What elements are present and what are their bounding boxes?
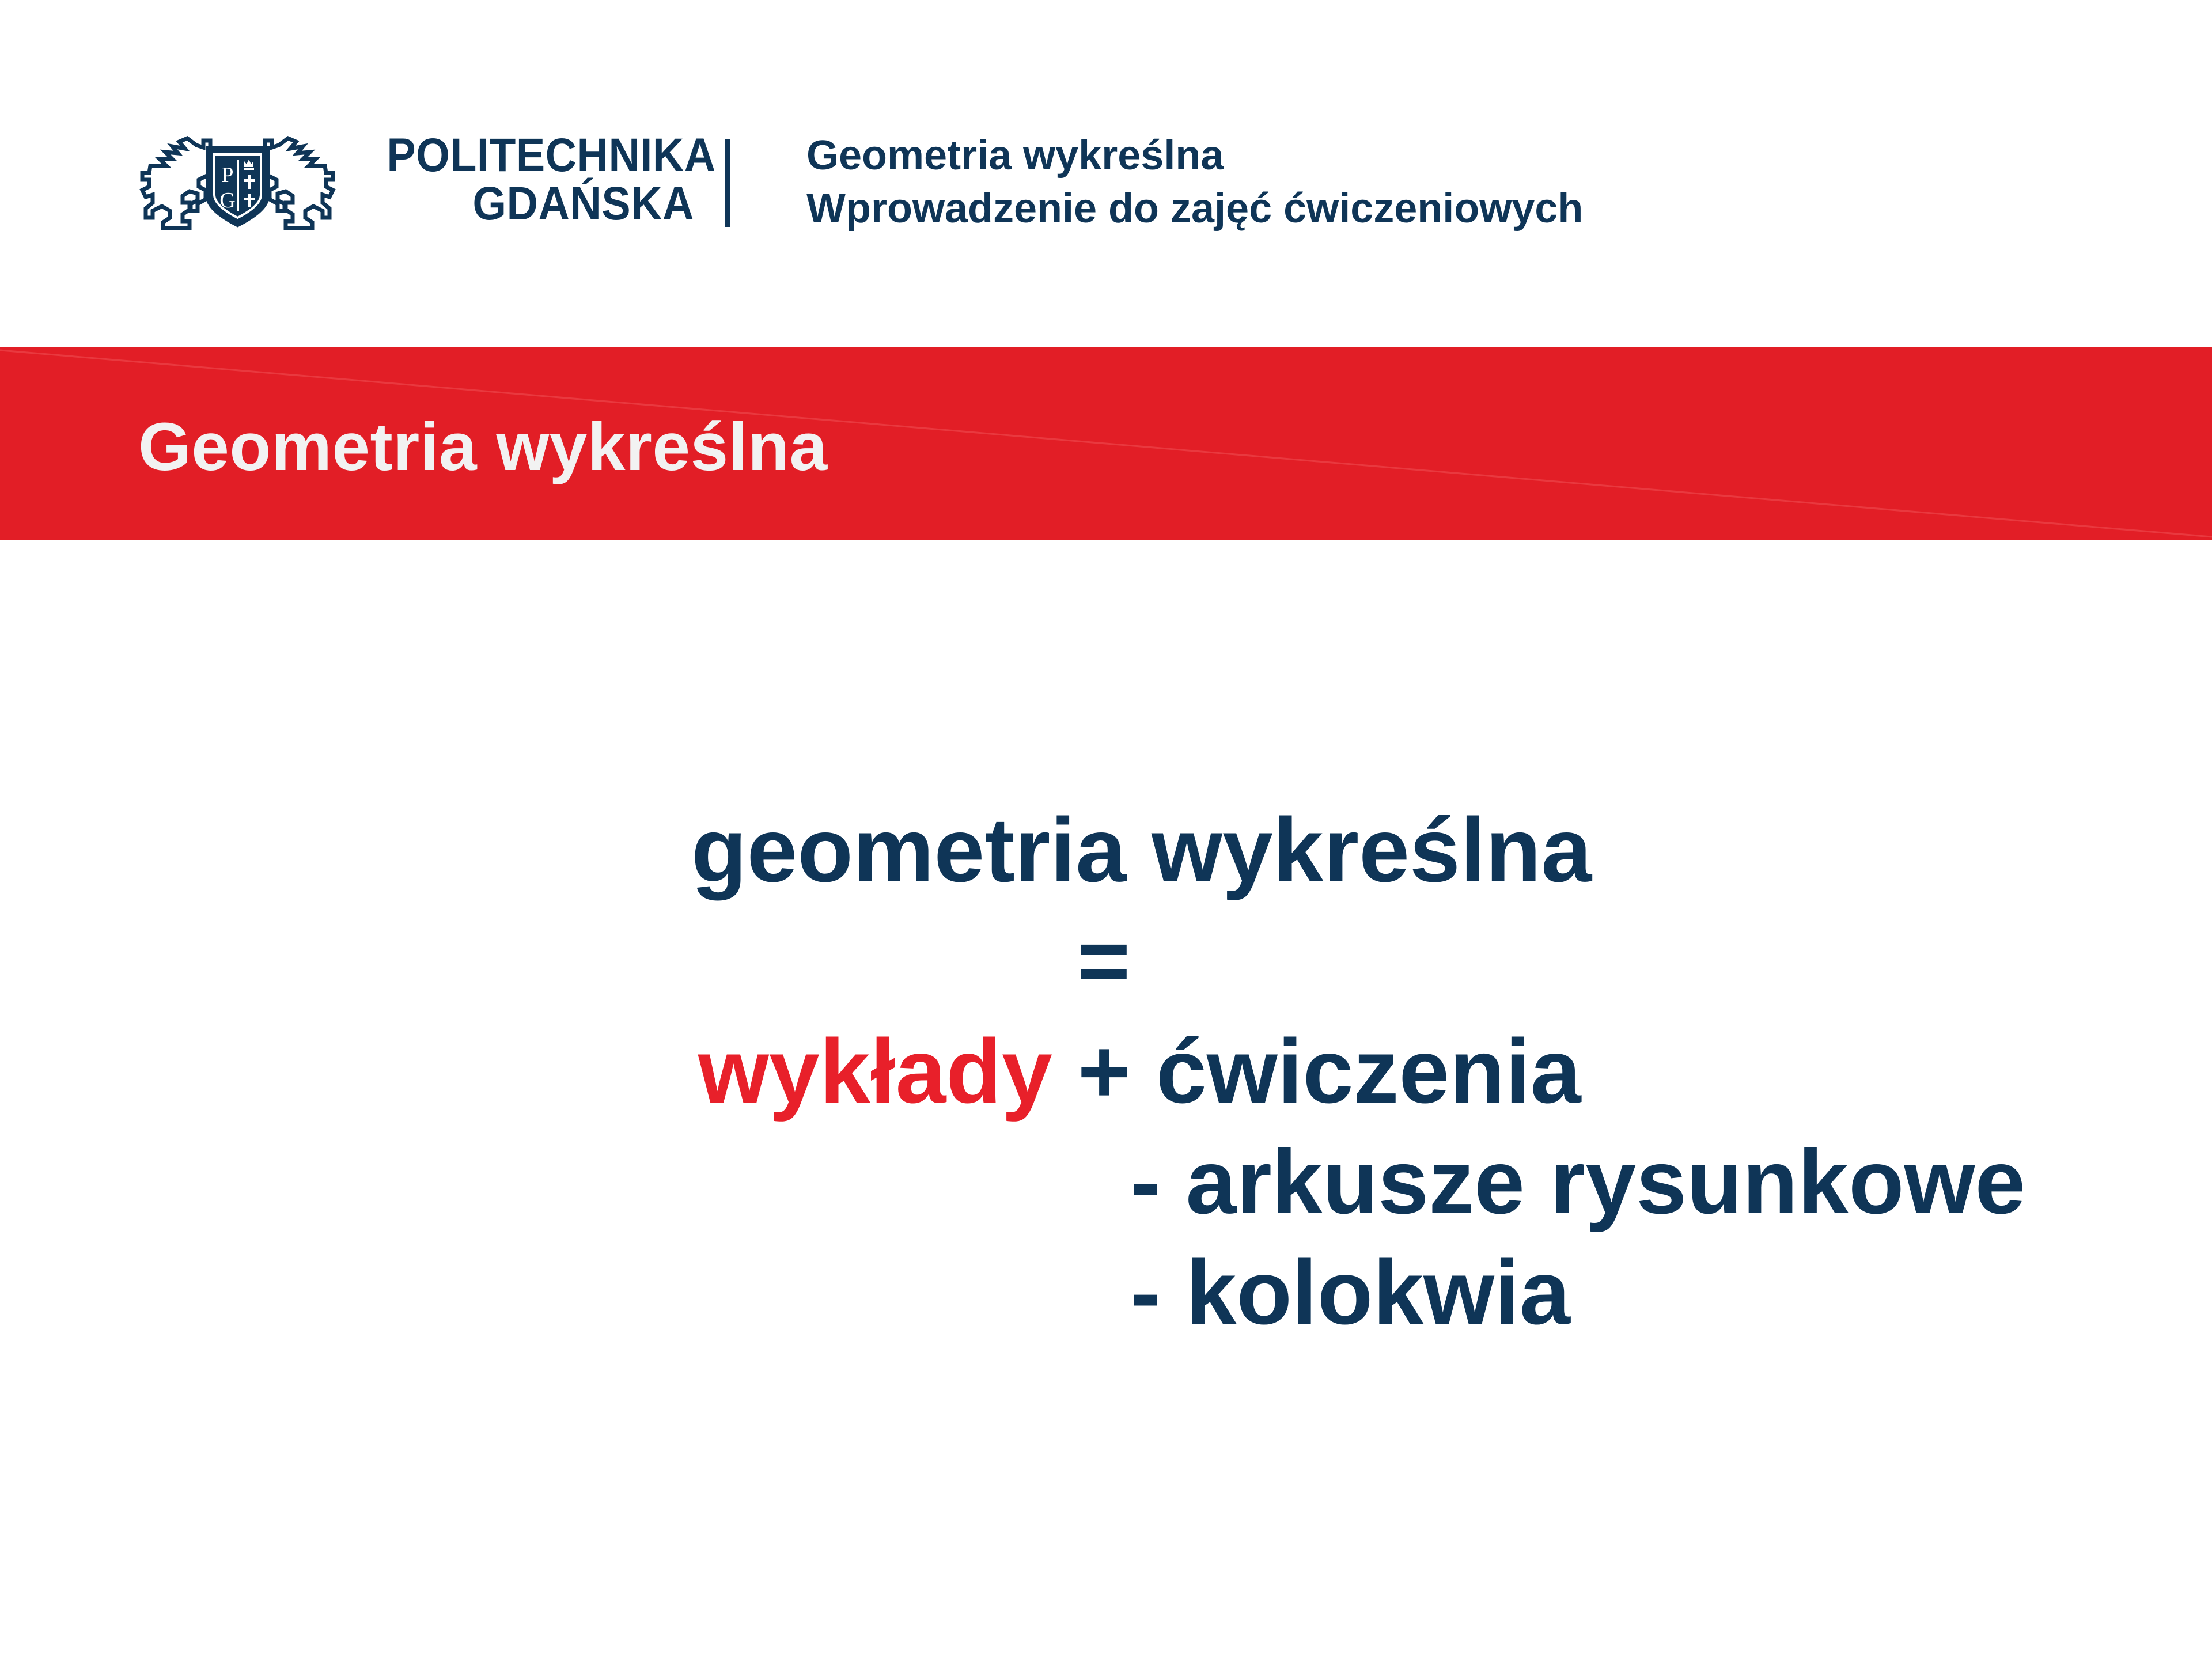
- sub-item-drawing-sheets: - arkusze rysunkowe: [1130, 1127, 2212, 1237]
- brand-wordmark: POLITECHNIKA GDAŃSKA: [387, 131, 694, 228]
- wordmark-line-politechnika: POLITECHNIKA: [387, 131, 694, 180]
- sub-item-colloquia-label: - kolokwia: [1130, 1242, 1570, 1343]
- header-subject-block: Geometria wykreślna Wprowadzenie do zaję…: [806, 129, 1583, 235]
- plus-sign: +: [1078, 1021, 1131, 1122]
- wordmark-line-gdanska: GDAŃSKA: [387, 180, 694, 228]
- component-exercises: ćwiczenia: [1156, 1021, 1581, 1122]
- svg-text:G: G: [219, 188, 235, 213]
- equation-line-components: wykłady + ćwiczenia: [698, 1016, 2212, 1127]
- section-band-title: Geometria wykreślna: [138, 408, 828, 486]
- slide-body: geometria wykreślna = wykłady + ćwiczeni…: [0, 795, 2212, 1348]
- sub-item-drawing-sheets-label: - arkusze rysunkowe: [1130, 1131, 2025, 1233]
- component-lectures: wykłady: [698, 1021, 1052, 1122]
- equation-line-equals: =: [1077, 906, 2212, 1016]
- brand-header: P G POLITECHNIKA GDAŃSKA: [0, 0, 2212, 347]
- equation-line-subject: geometria wykreślna: [691, 795, 2212, 906]
- header-subject-line-2: Wprowadzenie do zajęć ćwiczeniowych: [806, 182, 1583, 235]
- header-vertical-divider: [725, 139, 730, 227]
- equation-subject-text: geometria wykreślna: [691, 800, 1592, 901]
- equals-sign: =: [1077, 910, 1130, 1012]
- svg-text:P: P: [221, 163, 233, 187]
- header-subject-line-1: Geometria wykreślna: [806, 129, 1583, 182]
- slide-root: P G POLITECHNIKA GDAŃSKA: [0, 0, 2212, 1659]
- sub-item-colloquia: - kolokwia: [1130, 1237, 2212, 1348]
- politechnika-gdanska-coat-of-arms-icon: P G: [130, 122, 346, 230]
